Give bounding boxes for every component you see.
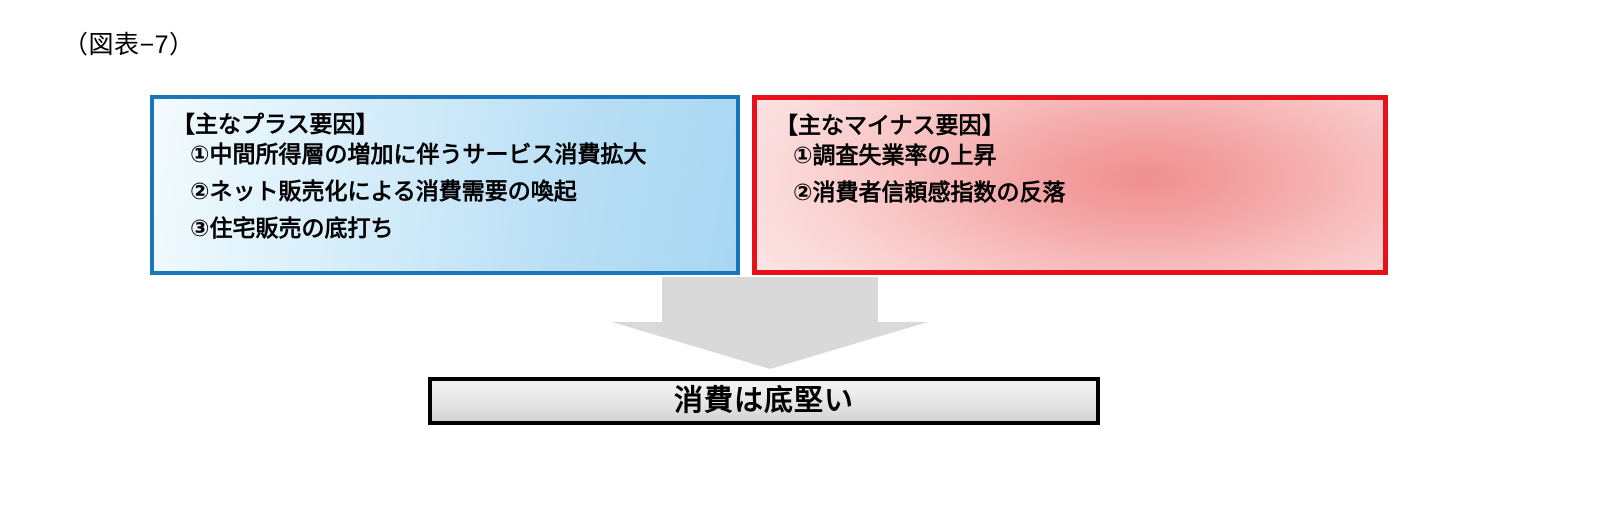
list-item: ①調査失業率の上昇 (775, 144, 1383, 167)
conclusion-text: 消費は底堅い (674, 387, 854, 416)
negative-factors-list: ①調査失業率の上昇 ②消費者信頼感指数の反落 (775, 144, 1383, 204)
list-item: ②ネット販売化による消費需要の喚起 (172, 180, 736, 203)
positive-factors-heading: 【主なプラス要因】 (172, 113, 736, 136)
negative-factors-content: 【主なマイナス要因】 ①調査失業率の上昇 ②消費者信頼感指数の反落 (757, 100, 1383, 270)
positive-factors-box: 【主なプラス要因】 ①中間所得層の増加に伴うサービス消費拡大 ②ネット販売化によ… (150, 95, 740, 275)
figure-caption: （図表−7） (63, 25, 195, 61)
list-item: ③住宅販売の底打ち (172, 217, 736, 240)
list-item: ②消費者信頼感指数の反落 (775, 181, 1383, 204)
positive-factors-list: ①中間所得層の増加に伴うサービス消費拡大 ②ネット販売化による消費需要の喚起 ③… (172, 143, 736, 240)
positive-factors-content: 【主なプラス要因】 ①中間所得層の増加に伴うサービス消費拡大 ②ネット販売化によ… (154, 99, 736, 271)
conclusion-box: 消費は底堅い (428, 377, 1100, 425)
list-item: ①中間所得層の増加に伴うサービス消費拡大 (172, 143, 736, 166)
down-arrow-icon (612, 277, 928, 369)
negative-factors-box: 【主なマイナス要因】 ①調査失業率の上昇 ②消費者信頼感指数の反落 (752, 95, 1388, 275)
figure-canvas: （図表−7） 【主なプラス要因】 ①中間所得層の増加に伴うサービス消費拡大 ②ネ… (0, 0, 1613, 507)
negative-factors-heading: 【主なマイナス要因】 (775, 114, 1383, 137)
